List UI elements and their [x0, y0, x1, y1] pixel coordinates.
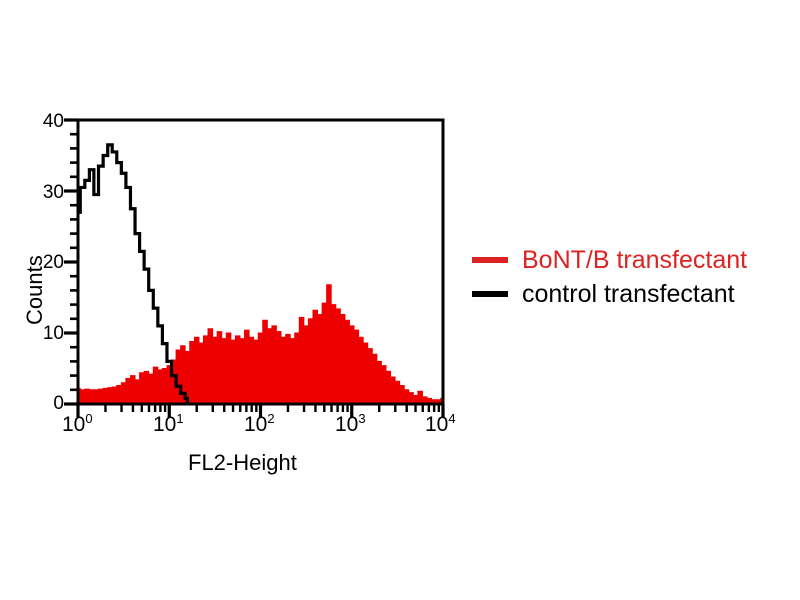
- legend-label-bont-b: BoNT/B transfectant: [522, 248, 747, 273]
- legend-item-control: control transfectant: [472, 277, 798, 311]
- xtick-exponent-1e4: 4: [448, 411, 455, 426]
- ytick-label-40: 40: [30, 112, 64, 131]
- ytick-label-30: 30: [30, 183, 64, 202]
- xtick-label-1e0: 100: [62, 414, 93, 435]
- xtick-mantissa-1e2: 10: [244, 413, 267, 436]
- xtick-exponent-1e3: 3: [358, 411, 365, 426]
- x-axis-title: FL2-Height: [188, 452, 297, 474]
- legend-item-bont-b: BoNT/B transfectant: [472, 243, 798, 277]
- ytick-label-10: 10: [30, 324, 64, 343]
- xtick-exponent-1e0: 0: [85, 411, 92, 426]
- legend-color-swatch-bont-b: [472, 257, 508, 263]
- xtick-exponent-1e1: 1: [176, 411, 183, 426]
- legend: BoNT/B transfectant control transfectant: [472, 243, 798, 311]
- xtick-mantissa-1e4: 10: [425, 413, 448, 436]
- legend-label-control: control transfectant: [522, 282, 735, 307]
- xtick-label-1e4: 104: [425, 414, 456, 435]
- xtick-exponent-1e2: 2: [267, 411, 274, 426]
- legend-color-swatch-control: [472, 291, 508, 297]
- xtick-mantissa-1e0: 10: [62, 413, 85, 436]
- y-axis-title: Counts: [24, 255, 46, 325]
- xtick-label-1e2: 102: [244, 414, 275, 435]
- histogram-plot: 0 10 20 30 40 Counts 100 101 102 103 104…: [0, 0, 800, 600]
- xtick-label-1e1: 101: [153, 414, 184, 435]
- xtick-mantissa-1e3: 10: [335, 413, 358, 436]
- ytick-label-0: 0: [30, 394, 64, 413]
- xtick-label-1e3: 103: [335, 414, 366, 435]
- flow-cytometry-figure: 0 10 20 30 40 Counts 100 101 102 103 104…: [0, 0, 800, 600]
- xtick-mantissa-1e1: 10: [153, 413, 176, 436]
